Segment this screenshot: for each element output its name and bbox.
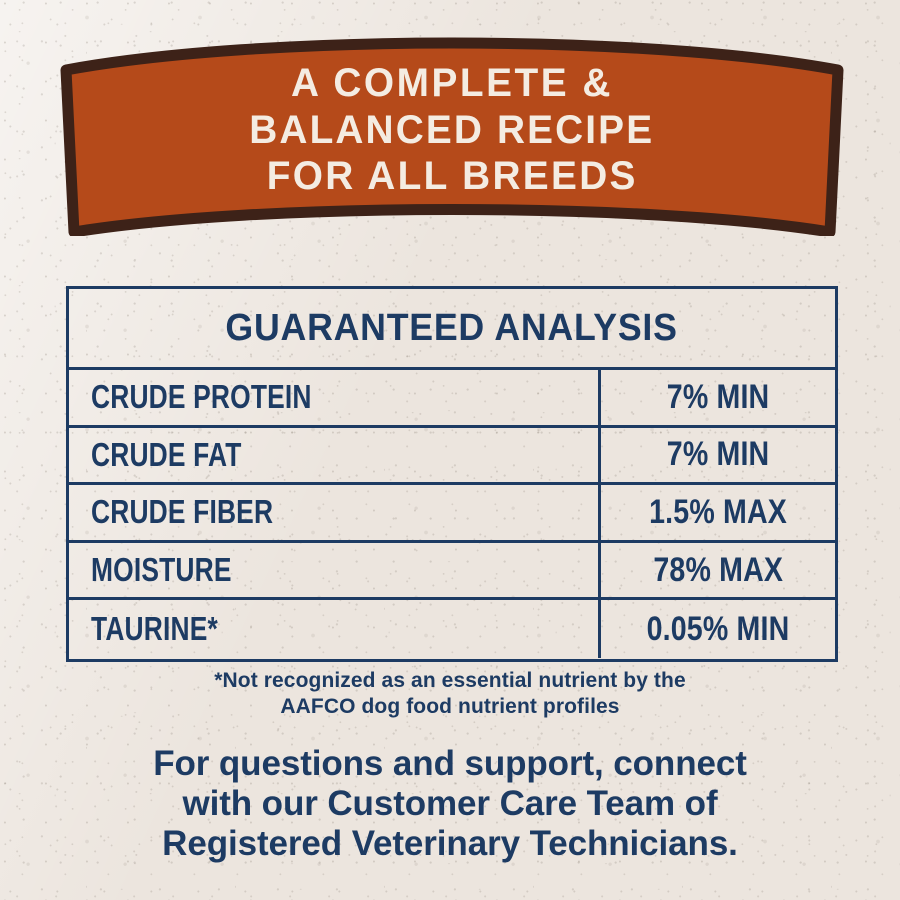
customer-support-message: For questions and support, connect with … <box>0 744 900 864</box>
footnote-line-2: AAFCO dog food nutrient profiles <box>0 694 900 720</box>
guaranteed-analysis-table: GUARANTEED ANALYSIS CRUDE PROTEIN 7% MIN… <box>66 286 838 662</box>
nutrient-value: 7% MIN <box>667 435 770 474</box>
table-cell-nutrient: CRUDE PROTEIN <box>69 370 601 425</box>
nutrient-value: 0.05% MIN <box>647 610 790 649</box>
table-row: MOISTURE 78% MAX <box>69 543 835 601</box>
footnote-line-1: *Not recognized as an essential nutrient… <box>0 668 900 694</box>
table-cell-nutrient: MOISTURE <box>69 543 601 598</box>
recipe-claim-banner: A COMPLETE & BALANCED RECIPE FOR ALL BRE… <box>60 36 844 236</box>
table-cell-nutrient: TAURINE* <box>69 600 601 658</box>
table-title: GUARANTEED ANALYSIS <box>226 307 678 350</box>
table-row: CRUDE FAT 7% MIN <box>69 428 835 486</box>
table-cell-amount: 78% MAX <box>601 543 835 598</box>
table-cell-nutrient: CRUDE FIBER <box>69 485 601 540</box>
nutrient-value: 7% MIN <box>667 378 770 417</box>
closing-line-2: with our Customer Care Team of <box>0 784 900 824</box>
nutrient-name: CRUDE PROTEIN <box>91 378 312 416</box>
product-label-panel: A COMPLETE & BALANCED RECIPE FOR ALL BRE… <box>0 0 900 900</box>
nutrient-name: CRUDE FIBER <box>91 493 273 531</box>
nutrient-name: TAURINE* <box>91 610 218 648</box>
table-row: TAURINE* 0.05% MIN <box>69 600 835 658</box>
table-cell-amount: 7% MIN <box>601 370 835 425</box>
table-cell-amount: 1.5% MAX <box>601 485 835 540</box>
table-body: CRUDE PROTEIN 7% MIN CRUDE FAT 7% MIN CR… <box>69 370 835 658</box>
closing-line-1: For questions and support, connect <box>0 744 900 784</box>
banner-shape <box>60 36 844 236</box>
table-row: CRUDE FIBER 1.5% MAX <box>69 485 835 543</box>
table-cell-nutrient: CRUDE FAT <box>69 428 601 483</box>
banner-plate <box>66 43 838 232</box>
table-row: CRUDE PROTEIN 7% MIN <box>69 370 835 428</box>
table-cell-amount: 7% MIN <box>601 428 835 483</box>
taurine-footnote: *Not recognized as an essential nutrient… <box>0 668 900 720</box>
table-cell-amount: 0.05% MIN <box>601 600 835 658</box>
nutrient-value: 78% MAX <box>653 551 783 590</box>
nutrient-name: CRUDE FAT <box>91 436 242 474</box>
nutrient-value: 1.5% MAX <box>649 493 787 532</box>
closing-line-3: Registered Veterinary Technicians. <box>0 824 900 864</box>
table-header: GUARANTEED ANALYSIS <box>69 289 835 370</box>
nutrient-name: MOISTURE <box>91 551 232 589</box>
